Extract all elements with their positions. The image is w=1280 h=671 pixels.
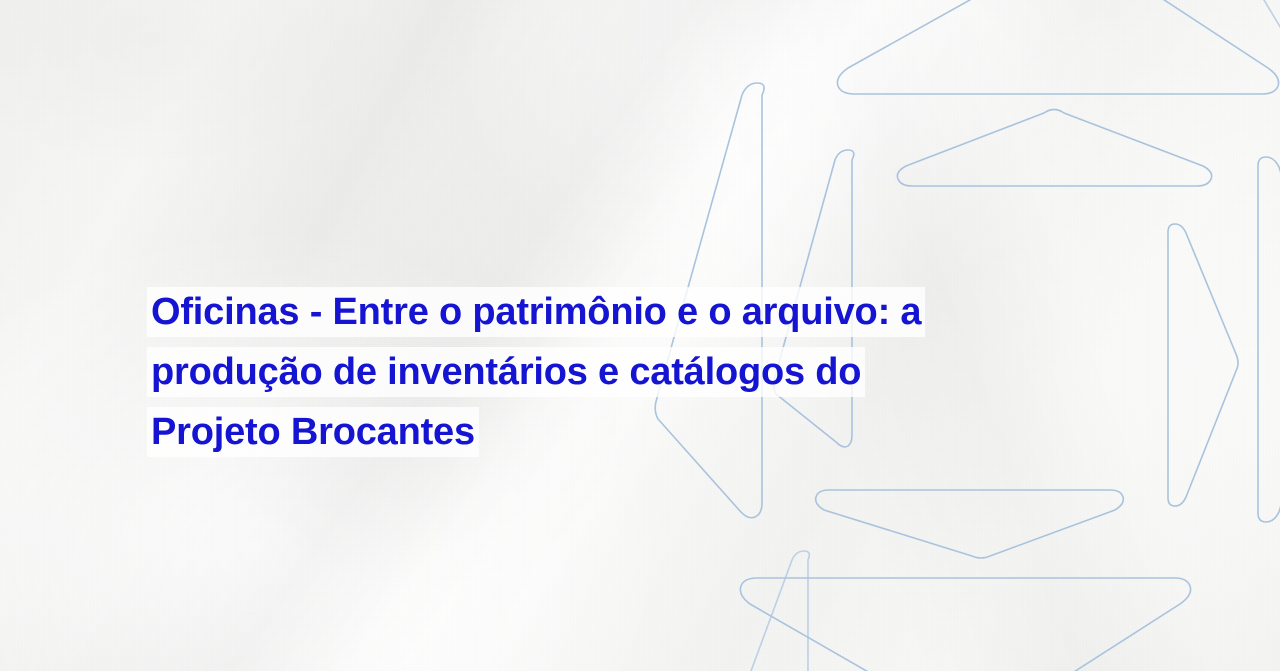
page-title-line-2: produção de inventários e catálogos do	[151, 346, 1031, 406]
page-title-line-3-text: Projeto Brocantes	[151, 411, 475, 453]
page-title-line-3: Projeto Brocantes	[151, 406, 1031, 466]
banner-hero: Oficinas - Entre o patrimônio e o arquiv…	[0, 0, 1280, 671]
page-title-line-2-text: produção de inventários e catálogos do	[151, 351, 861, 393]
page-title-line-1: Oficinas - Entre o patrimônio e o arquiv…	[151, 286, 1031, 346]
page-title-line-1-text: Oficinas - Entre o patrimônio e o arquiv…	[151, 291, 921, 333]
page-title: Oficinas - Entre o patrimônio e o arquiv…	[151, 286, 1031, 466]
